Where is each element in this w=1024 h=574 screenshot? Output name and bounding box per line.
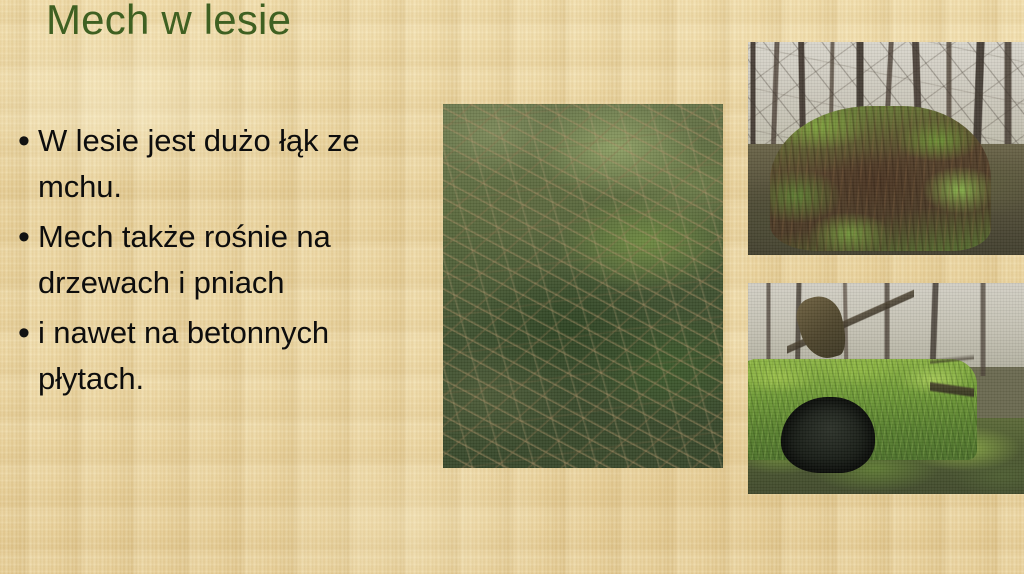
bullet-text: Mech także rośnie na drzewach i pniach <box>38 214 434 306</box>
photo-mossy-slab <box>748 283 1024 494</box>
bullet-dot-icon: • <box>14 118 38 164</box>
bullet-dot-icon: • <box>14 310 38 356</box>
list-item: • Mech także rośnie na drzewach i pniach <box>14 214 434 306</box>
forest-floor-grain-layer <box>443 104 723 468</box>
list-item: • W lesie jest dużo łąk ze mchu. <box>14 118 434 210</box>
slide: Mech w lesie • W lesie jest dużo łąk ze … <box>0 0 1024 574</box>
slab-grain-layer <box>748 283 1024 494</box>
photo-forest-floor <box>443 104 723 468</box>
photo-mossy-stump <box>748 42 1024 255</box>
bullet-list: • W lesie jest dużo łąk ze mchu. • Mech … <box>14 118 434 406</box>
page-title: Mech w lesie <box>46 0 291 44</box>
list-item: • i nawet na betonnych płytach. <box>14 310 434 402</box>
bullet-dot-icon: • <box>14 214 38 260</box>
stump-grain-layer <box>748 42 1024 255</box>
bullet-text: W lesie jest dużo łąk ze mchu. <box>38 118 434 210</box>
bullet-text: i nawet na betonnych płytach. <box>38 310 434 402</box>
